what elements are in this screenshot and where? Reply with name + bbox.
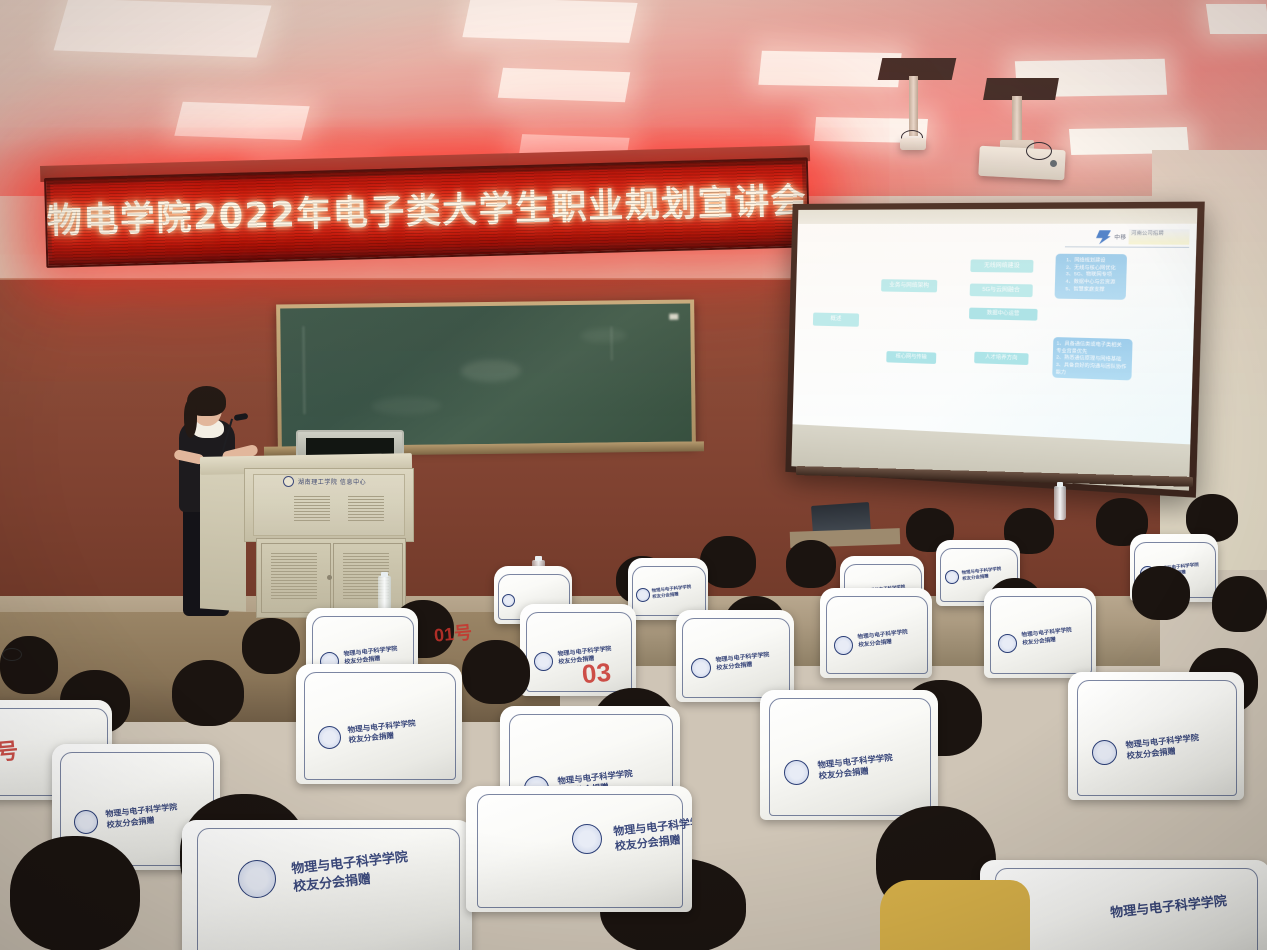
- projector-mount-rod: [1012, 96, 1022, 144]
- slide-node: 核心网与传输: [886, 351, 936, 364]
- ceiling-light-panel: [462, 0, 637, 43]
- podium-side-panel: [200, 468, 246, 611]
- audience-head: [172, 660, 244, 726]
- slide-node: 业务与网络架构: [881, 279, 937, 292]
- company-logo-icon: [1096, 230, 1111, 244]
- slide-node: 5G与云网融合: [970, 284, 1033, 298]
- projection-screen: 中移 河南公司招聘 概述 业务与网络架构 核心网与传输 无线网络建设 5G与云网…: [785, 202, 1204, 498]
- projector-lens-icon: [1050, 160, 1057, 167]
- audience-head: [786, 540, 836, 588]
- lecture-hall-photo: 物电学院2022年电子类大学生职业规划宣讲会 中移 河南公司招聘: [0, 0, 1267, 950]
- blackboard: [276, 299, 696, 450]
- speaker-hair: [184, 400, 197, 438]
- ceiling-light-panel: [174, 102, 309, 140]
- chair-with-cover: 物理与电子科学学院 校友分会捐赠: [676, 610, 794, 702]
- banner-text: 物电学院2022年电子类大学生职业规划宣讲会: [47, 184, 808, 240]
- eyeglasses-icon: [2, 648, 22, 661]
- podium-vent: [294, 496, 330, 522]
- podium-label-text: 湖南理工学院 信息中心: [298, 477, 366, 486]
- chair-with-cover: 物理与电子科学学院 校友分会捐赠: [1068, 672, 1244, 800]
- audience-head: [242, 618, 300, 674]
- audience-shoulder: [880, 880, 1030, 950]
- audience-head: [700, 536, 756, 588]
- chair-with-cover: 物理与电子科学学院 校友分会捐赠: [466, 786, 692, 912]
- audience-head: [0, 636, 58, 694]
- podium-vent: [348, 496, 384, 522]
- podium-label: 湖南理工学院 信息中心: [283, 476, 366, 487]
- university-seal-icon: [283, 476, 294, 487]
- audience-head: [1132, 566, 1190, 620]
- chair-with-cover: 物理与电子科学学院 校友分会捐赠: [984, 588, 1096, 678]
- ceiling-light-panel: [1206, 4, 1267, 34]
- seat-number: 03: [581, 657, 613, 690]
- slide-bullet-box: 1、具备通信类或电子类相关 专业背景优先 2、熟悉通信原理与网络基础 3、具备良…: [1052, 337, 1132, 380]
- slide-node: 人才培养方向: [974, 352, 1028, 365]
- chair-with-cover: 物理与电子科学学院 校友分会捐赠: [820, 588, 932, 678]
- slide-corner-tag: 河南公司招聘: [1129, 229, 1190, 244]
- chair-with-cover: 物理与电子科学学院 校友分会捐赠: [520, 604, 636, 696]
- projector-mount-rod: [909, 76, 918, 136]
- cabinet-handle-icon[interactable]: [327, 575, 332, 580]
- seat-number: 01号: [433, 618, 473, 647]
- slide-node: 数据中心运营: [969, 308, 1038, 321]
- projector-cable-icon: [1026, 142, 1052, 160]
- chair-with-cover: 物理与电子科学学院 校友分会捐赠: [760, 690, 938, 820]
- ceiling-light-panel: [54, 0, 272, 58]
- slide-tag-text: 河南公司招聘: [1129, 229, 1190, 238]
- slide-bullet-box: 1、网络规划建设 2、无线与核心网优化 3、5G、物联网专项 4、数据中心与云资…: [1055, 254, 1128, 300]
- ceiling-light-panel: [498, 68, 631, 102]
- water-bottle: [1054, 486, 1066, 520]
- audience-head: [1212, 576, 1267, 632]
- slide-node: 无线网络建设: [970, 259, 1033, 272]
- slide-logo-text: 中移: [1114, 234, 1126, 242]
- slide-logo: 中移: [1096, 230, 1127, 244]
- projector-mount-bracket: [900, 138, 926, 150]
- seat-number: 号: [0, 733, 19, 767]
- slide-divider: [1065, 246, 1189, 248]
- audience-head: [462, 640, 530, 704]
- chair-with-cover: 物理与电子科学学院 校友分会捐赠: [296, 664, 462, 784]
- slide-node-root: 概述: [813, 313, 859, 327]
- presentation-slide: 中移 河南公司招聘 概述 业务与网络架构 核心网与传输 无线网络建设 5G与云网…: [793, 224, 1197, 445]
- audience-head: [10, 836, 140, 950]
- chair-with-cover: 物理与电子科学学院 校友分会捐赠: [182, 820, 472, 950]
